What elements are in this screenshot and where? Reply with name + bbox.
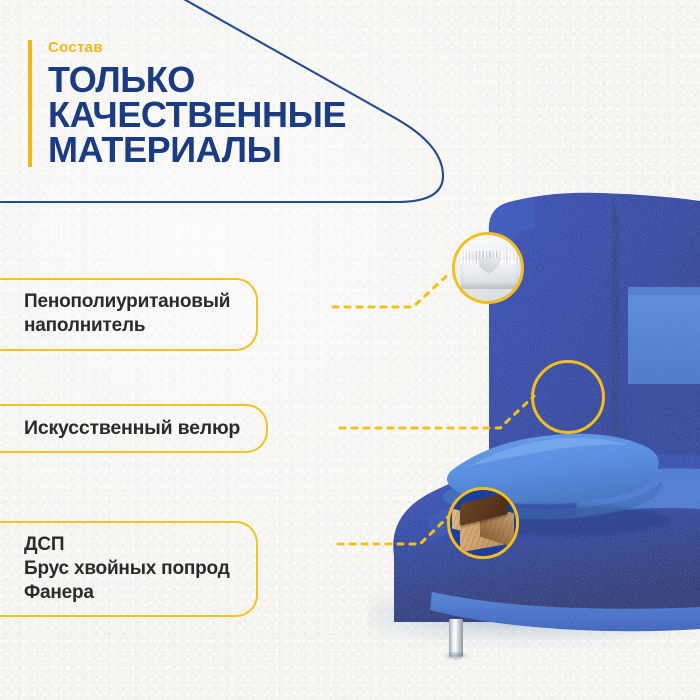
header-block: Состав ТОЛЬКО КАЧЕСТВЕННЫЕ МАТЕРИАЛЫ [28, 40, 346, 167]
material-label-frame[interactable]: ДСП Брус хвойных попрод Фанера [0, 521, 258, 617]
detail-bubble-foam[interactable] [452, 232, 524, 304]
page-title: ТОЛЬКО КАЧЕСТВЕННЫЕ МАТЕРИАЛЫ [48, 62, 346, 168]
wood-frame-icon [450, 490, 516, 556]
material-label-frame-text: ДСП Брус хвойных попрод Фанера [24, 533, 230, 605]
material-label-foam[interactable]: Пенополиуритановый наполнитель [0, 278, 258, 351]
chrome-leg [449, 619, 463, 657]
infographic-poster: Состав ТОЛЬКО КАЧЕСТВЕННЫЕ МАТЕРИАЛЫ Пен… [0, 0, 700, 700]
material-label-velour-text: Искусственный велюр [24, 416, 240, 441]
material-label-foam-text: Пенополиуритановый наполнитель [24, 290, 230, 339]
detail-bubble-velour[interactable] [531, 360, 605, 434]
velour-fabric-icon [534, 363, 602, 431]
material-label-velour[interactable]: Искусственный велюр [0, 404, 268, 453]
detail-bubble-frame[interactable] [447, 487, 519, 559]
foam-block-icon [455, 235, 521, 301]
eyebrow-label: Состав [48, 40, 346, 57]
